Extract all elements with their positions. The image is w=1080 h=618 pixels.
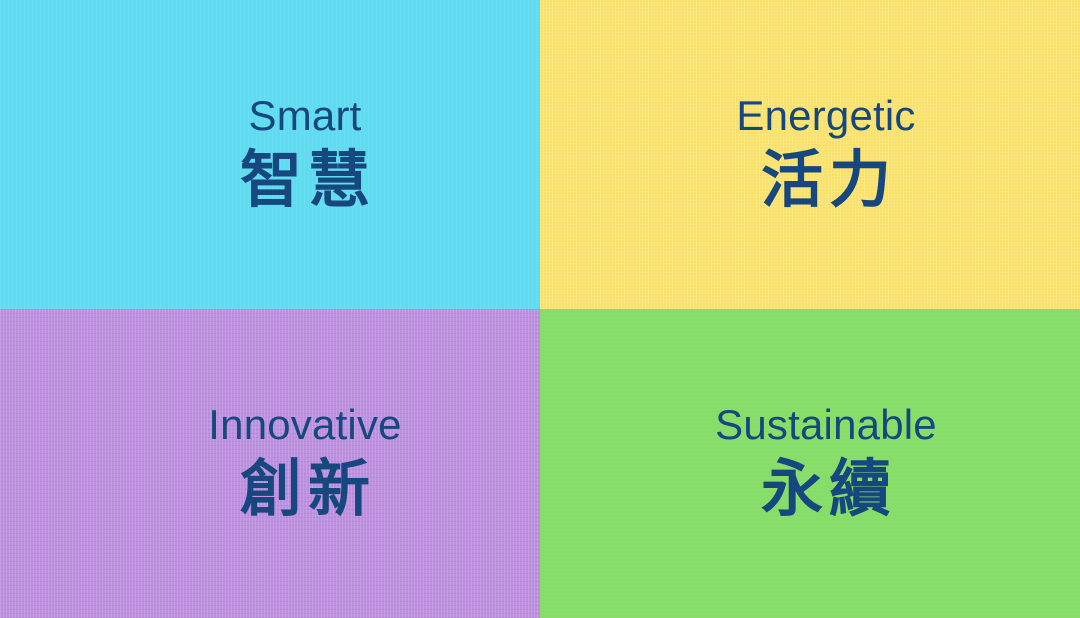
label-stack-energetic: Energetic 活力 [540, 94, 1080, 216]
values-grid: Smart 智慧 Energetic 活力 Innovative 創新 Sust… [0, 0, 1080, 618]
quadrant-innovative[interactable]: Innovative 創新 [0, 309, 540, 618]
value-label-cjk-energetic: 活力 [572, 146, 1080, 215]
value-label-cjk-innovative: 創新 [70, 455, 540, 524]
label-stack-innovative: Innovative 創新 [0, 403, 540, 525]
value-label-en-sustainable: Sustainable [572, 403, 1080, 447]
quadrant-sustainable[interactable]: Sustainable 永續 [540, 309, 1080, 618]
value-label-cjk-smart: 智慧 [70, 146, 540, 215]
label-stack-sustainable: Sustainable 永續 [540, 403, 1080, 525]
value-label-en-smart: Smart [70, 94, 540, 138]
quadrant-smart[interactable]: Smart 智慧 [0, 0, 540, 309]
label-stack-smart: Smart 智慧 [0, 94, 540, 216]
value-label-en-energetic: Energetic [572, 94, 1080, 138]
quadrant-energetic[interactable]: Energetic 活力 [540, 0, 1080, 309]
value-label-en-innovative: Innovative [70, 403, 540, 447]
value-label-cjk-sustainable: 永續 [572, 455, 1080, 524]
